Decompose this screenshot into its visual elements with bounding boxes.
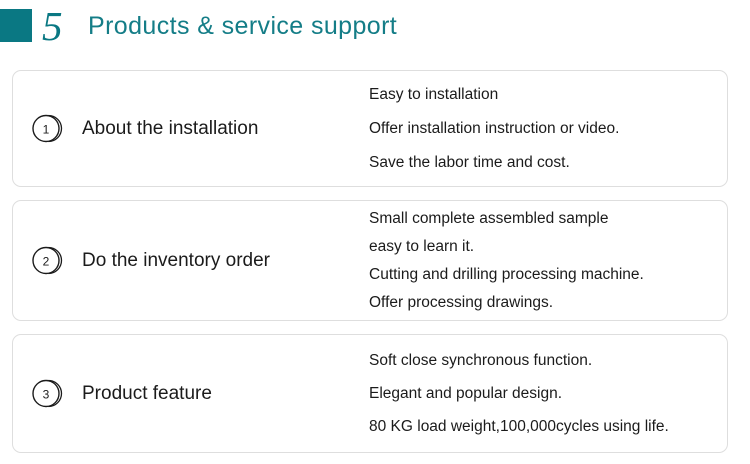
detail-line: Elegant and popular design. — [369, 377, 729, 410]
card-left-column: 1 About the installation — [13, 71, 369, 186]
detail-line: Offer installation instruction or video. — [369, 112, 729, 146]
support-card: 1 About the installation Easy to install… — [12, 70, 728, 187]
card-title: Do the inventory order — [82, 249, 270, 273]
card-title: About the installation — [82, 117, 258, 141]
support-card: 3 Product feature Soft close synchronous… — [12, 334, 728, 453]
detail-line: easy to learn it. — [369, 233, 729, 261]
detail-line: Soft close synchronous function. — [369, 344, 729, 377]
card-left-column: 2 Do the inventory order — [13, 201, 369, 320]
step-badge-number: 2 — [43, 255, 50, 269]
detail-line: Save the labor time and cost. — [369, 146, 729, 180]
teal-square-icon — [0, 9, 32, 42]
detail-line: Offer processing drawings. — [369, 289, 729, 317]
page-title: Products & service support — [88, 10, 397, 42]
step-badge-number: 1 — [43, 123, 50, 137]
detail-line: Easy to installation — [369, 78, 729, 112]
card-detail-list: Small complete assembled sample easy to … — [369, 201, 729, 320]
page-header: 5 Products & service support — [0, 0, 750, 56]
detail-line: Small complete assembled sample — [369, 205, 729, 233]
section-number: 5 — [42, 2, 63, 50]
card-left-column: 3 Product feature — [13, 335, 369, 452]
step-badge-icon: 3 — [31, 378, 65, 409]
step-badge-icon: 1 — [31, 113, 65, 144]
detail-line: 80 KG load weight,100,000cycles using li… — [369, 410, 729, 443]
card-detail-list: Soft close synchronous function. Elegant… — [369, 335, 729, 452]
step-badge-icon: 2 — [31, 245, 65, 276]
support-card: 2 Do the inventory order Small complete … — [12, 200, 728, 321]
detail-line: Cutting and drilling processing machine. — [369, 261, 729, 289]
step-badge-number: 3 — [43, 388, 50, 402]
card-title: Product feature — [82, 382, 212, 406]
card-detail-list: Easy to installation Offer installation … — [369, 71, 729, 186]
